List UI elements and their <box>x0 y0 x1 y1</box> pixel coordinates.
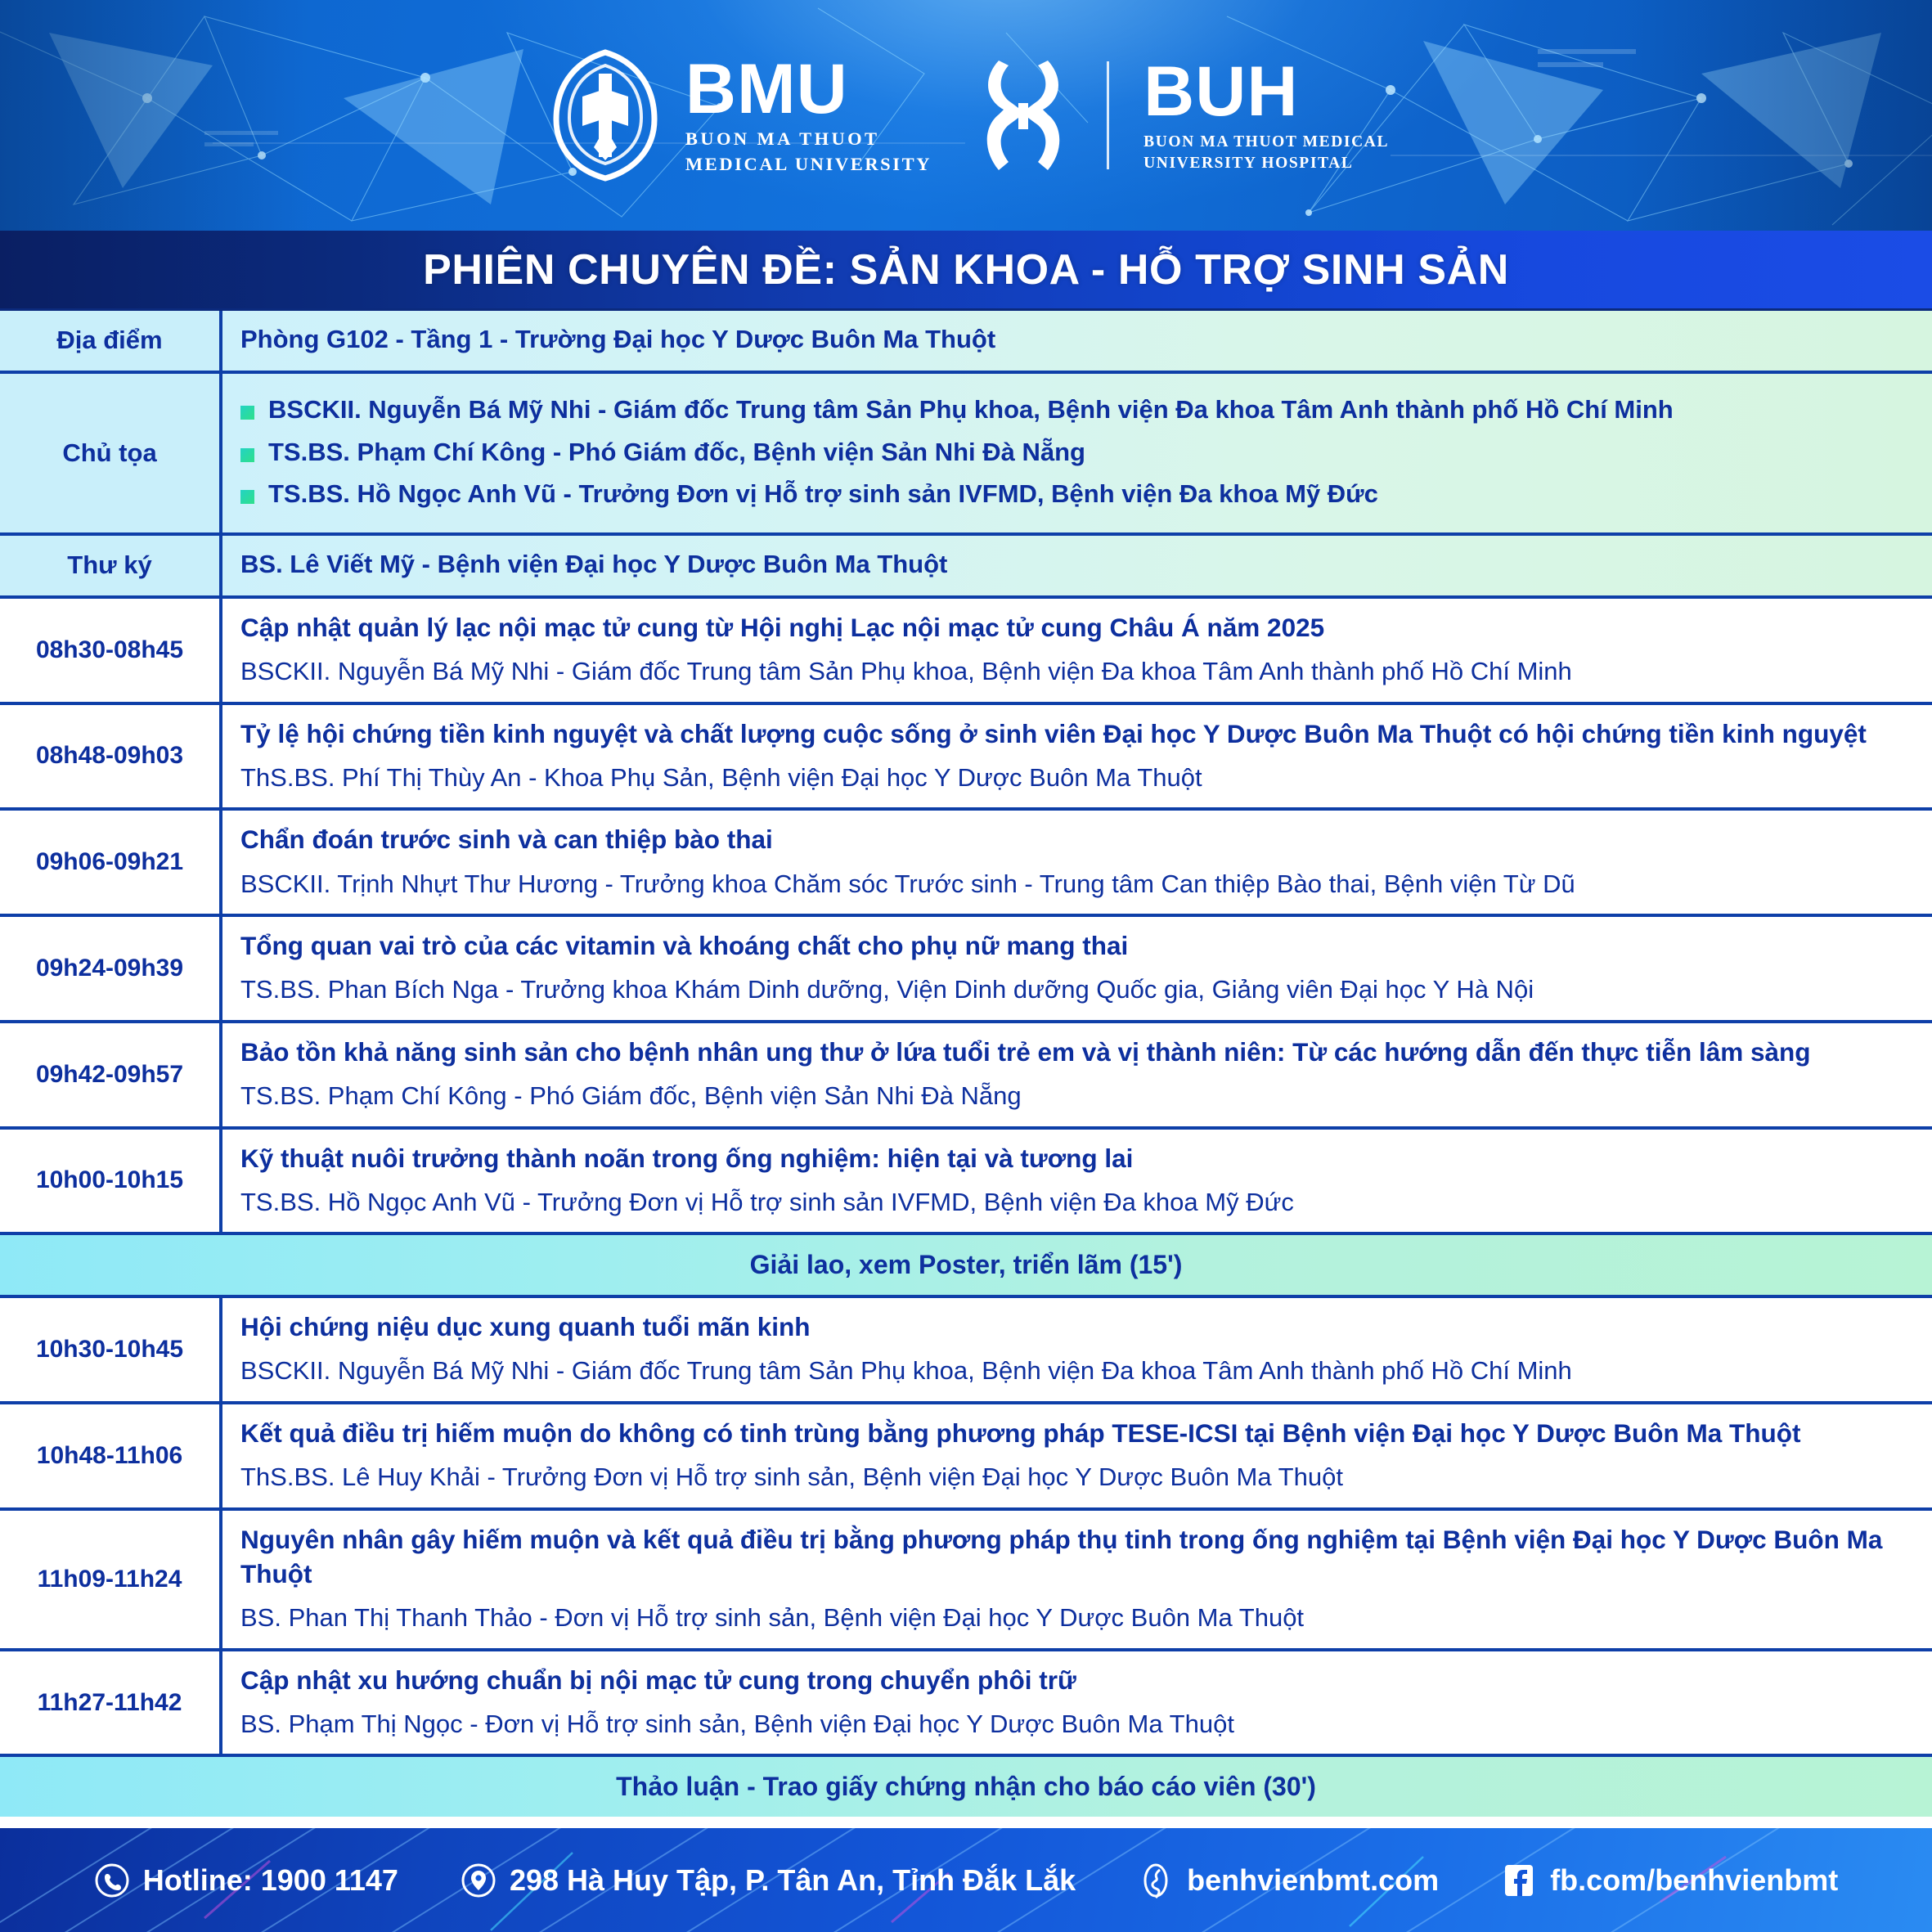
talk-time: 10h48-11h06 <box>0 1404 222 1507</box>
secretary-value-cell: BS. Lê Viết Mỹ - Bệnh viện Đại học Y Dượ… <box>222 536 1932 595</box>
chair-list: BSCKII. Nguyễn Bá Mỹ Nhi - Giám đốc Trun… <box>240 385 1914 519</box>
talk-cell: Tổng quan vai trò của các vitamin và kho… <box>222 917 1932 1020</box>
talk-title: Chẩn đoán trước sinh và can thiệp bào th… <box>240 822 1914 856</box>
talk-speaker: TS.BS. Phan Bích Nga - Trưởng khoa Khám … <box>240 973 1914 1007</box>
address-item: 298 Hà Huy Tập, P. Tân An, Tỉnh Đắk Lắk <box>461 1862 1076 1898</box>
table-row: 09h24-09h39Tổng quan vai trò của các vit… <box>0 917 1932 1023</box>
table-row: 10h48-11h06Kết quả điều trị hiếm muộn do… <box>0 1404 1932 1511</box>
break-row: Thảo luận - Trao giấy chứng nhận cho báo… <box>0 1757 1932 1817</box>
header-banner: BMU BUON MA THUOT MEDICAL UNIVERSITY BUH… <box>0 0 1932 231</box>
conference-session-poster: BMU BUON MA THUOT MEDICAL UNIVERSITY BUH… <box>0 0 1932 1932</box>
hotline-text: Hotline: 1900 1147 <box>143 1863 398 1898</box>
bmu-shield-logo-icon <box>543 49 667 182</box>
talk-title: Kết quả điều trị hiếm muộn do không có t… <box>240 1416 1914 1450</box>
website-item[interactable]: benhvienbmt.com <box>1138 1862 1439 1898</box>
chair-name-1: TS.BS. Phạm Chí Kông - Phó Giám đốc, Bện… <box>268 438 1085 466</box>
talk-title: Bảo tồn khả năng sinh sản cho bệnh nhân … <box>240 1035 1914 1069</box>
talk-cell: Tỷ lệ hội chứng tiền kinh nguyệt và chất… <box>222 705 1932 808</box>
venue-label: Địa điểm <box>0 311 222 371</box>
globe-icon <box>1138 1862 1174 1898</box>
schedule-rows: 08h30-08h45Cập nhật quản lý lạc nội mạc … <box>0 599 1932 1817</box>
chair-list-cell: BSCKII. Nguyễn Bá Mỹ Nhi - Giám đốc Trun… <box>222 374 1932 532</box>
venue-value-cell: Phòng G102 - Tầng 1 - Trường Đại học Y D… <box>222 311 1932 371</box>
buh-title: BUH <box>1143 58 1298 126</box>
break-label: Giải lao, xem Poster, triển lãm (15') <box>0 1235 1932 1295</box>
talk-title: Tỷ lệ hội chứng tiền kinh nguyệt và chất… <box>240 717 1914 751</box>
talk-cell: Kỹ thuật nuôi trưởng thành noãn trong ốn… <box>222 1130 1932 1233</box>
hotline-item[interactable]: Hotline: 1900 1147 <box>94 1862 398 1898</box>
break-row: Giải lao, xem Poster, triển lãm (15') <box>0 1235 1932 1298</box>
chair-name-0: BSCKII. Nguyễn Bá Mỹ Nhi - Giám đốc Trun… <box>268 395 1674 424</box>
table-row: 11h27-11h42Cập nhật xu hướng chuẩn bị nộ… <box>0 1651 1932 1758</box>
talk-title: Kỹ thuật nuôi trưởng thành noãn trong ốn… <box>240 1141 1914 1175</box>
website-text: benhvienbmt.com <box>1187 1863 1439 1898</box>
phone-icon <box>94 1862 130 1898</box>
schedule-table: Địa điểm Phòng G102 - Tầng 1 - Trường Đạ… <box>0 311 1932 1824</box>
bmu-subtitle-1: BUON MA THUOT <box>685 128 880 150</box>
talk-speaker: ThS.BS. Phí Thị Thùy An - Khoa Phụ Sản, … <box>240 761 1914 795</box>
talk-title: Tổng quan vai trò của các vitamin và kho… <box>240 928 1914 963</box>
talk-time: 08h48-09h03 <box>0 705 222 808</box>
table-row: 10h00-10h15Kỹ thuật nuôi trưởng thành no… <box>0 1130 1932 1236</box>
table-row: 09h06-09h21Chẩn đoán trước sinh và can t… <box>0 811 1932 917</box>
talk-speaker: TS.BS. Phạm Chí Kông - Phó Giám đốc, Bện… <box>240 1079 1914 1113</box>
page-title: PHIÊN CHUYÊN ĐỀ: SẢN KHOA - HỖ TRỢ SINH … <box>423 245 1509 294</box>
talk-title: Cập nhật xu hướng chuẩn bị nội mạc tử cu… <box>240 1663 1914 1697</box>
bmu-title: BMU <box>685 56 848 124</box>
square-bullet-icon <box>240 448 254 462</box>
talk-speaker: BSCKII. Trịnh Nhựt Thư Hương - Trưởng kh… <box>240 867 1914 901</box>
square-bullet-icon <box>240 490 254 504</box>
square-bullet-icon <box>240 406 254 420</box>
bmu-logo: BMU BUON MA THUOT MEDICAL UNIVERSITY <box>543 49 932 182</box>
talk-time: 09h42-09h57 <box>0 1023 222 1126</box>
talk-title: Nguyên nhân gây hiếm muộn và kết quả điề… <box>240 1522 1914 1591</box>
chair-name-2: TS.BS. Hồ Ngọc Anh Vũ - Trưởng Đơn vị Hỗ… <box>268 479 1378 508</box>
secretary-row: Thư ký BS. Lê Viết Mỹ - Bệnh viện Đại họ… <box>0 536 1932 599</box>
talk-cell: Hội chứng niệu dục xung quanh tuổi mãn k… <box>222 1298 1932 1401</box>
logo-row: BMU BUON MA THUOT MEDICAL UNIVERSITY BUH… <box>0 0 1932 231</box>
talk-cell: Chẩn đoán trước sinh và can thiệp bào th… <box>222 811 1932 914</box>
table-row: 11h09-11h24Nguyên nhân gây hiếm muộn và … <box>0 1511 1932 1651</box>
bmu-subtitle-2: MEDICAL UNIVERSITY <box>685 154 932 175</box>
buh-logo: BUH BUON MA THUOT MEDICAL UNIVERSITY HOS… <box>974 54 1389 177</box>
talk-cell: Nguyên nhân gây hiếm muộn và kết quả điề… <box>222 1511 1932 1648</box>
facebook-text: fb.com/benhvienbmt <box>1550 1863 1838 1898</box>
talk-speaker: BS. Phan Thị Thanh Thảo - Đơn vị Hỗ trợ … <box>240 1601 1914 1635</box>
talk-cell: Cập nhật xu hướng chuẩn bị nội mạc tử cu… <box>222 1651 1932 1755</box>
secretary-label: Thư ký <box>0 536 222 595</box>
talk-speaker: BSCKII. Nguyễn Bá Mỹ Nhi - Giám đốc Trun… <box>240 1354 1914 1388</box>
talk-cell: Kết quả điều trị hiếm muộn do không có t… <box>222 1404 1932 1507</box>
address-text: 298 Hà Huy Tập, P. Tân An, Tỉnh Đắk Lắk <box>510 1863 1076 1898</box>
talk-time: 08h30-08h45 <box>0 599 222 702</box>
talk-time: 09h06-09h21 <box>0 811 222 914</box>
list-item: TS.BS. Phạm Chí Kông - Phó Giám đốc, Bện… <box>240 435 1914 470</box>
map-pin-icon <box>461 1862 496 1898</box>
chair-label: Chủ tọa <box>0 374 222 532</box>
talk-speaker: BSCKII. Nguyễn Bá Mỹ Nhi - Giám đốc Trun… <box>240 654 1914 689</box>
table-row: 10h30-10h45Hội chứng niệu dục xung quanh… <box>0 1298 1932 1404</box>
break-label: Thảo luận - Trao giấy chứng nhận cho báo… <box>0 1757 1932 1817</box>
buh-divider <box>1107 61 1109 169</box>
talk-time: 11h09-11h24 <box>0 1511 222 1648</box>
contact-footer: Hotline: 1900 1147 298 Hà Huy Tập, P. Tâ… <box>0 1824 1932 1932</box>
venue-value: Phòng G102 - Tầng 1 - Trường Đại học Y D… <box>240 322 1914 357</box>
table-row: 08h48-09h03Tỷ lệ hội chứng tiền kinh ngu… <box>0 705 1932 811</box>
table-row: 08h30-08h45Cập nhật quản lý lạc nội mạc … <box>0 599 1932 705</box>
talk-title: Cập nhật quản lý lạc nội mạc tử cung từ … <box>240 610 1914 645</box>
list-item: BSCKII. Nguyễn Bá Mỹ Nhi - Giám đốc Trun… <box>240 393 1914 428</box>
talk-time: 10h30-10h45 <box>0 1298 222 1401</box>
talk-time: 10h00-10h15 <box>0 1130 222 1233</box>
talk-title: Hội chứng niệu dục xung quanh tuổi mãn k… <box>240 1310 1914 1344</box>
table-row: 09h42-09h57Bảo tồn khả năng sinh sản cho… <box>0 1023 1932 1130</box>
facebook-icon <box>1501 1862 1537 1898</box>
venue-row: Địa điểm Phòng G102 - Tầng 1 - Trường Đạ… <box>0 311 1932 374</box>
talk-speaker: BS. Phạm Thị Ngọc - Đơn vị Hỗ trợ sinh s… <box>240 1707 1914 1741</box>
chair-row: Chủ tọa BSCKII. Nguyễn Bá Mỹ Nhi - Giám … <box>0 374 1932 536</box>
buh-subtitle-1: BUON MA THUOT MEDICAL <box>1143 133 1389 151</box>
talk-time: 09h24-09h39 <box>0 917 222 1020</box>
buh-subtitle-2: UNIVERSITY HOSPITAL <box>1143 155 1353 173</box>
secretary-value: BS. Lê Viết Mỹ - Bệnh viện Đại học Y Dượ… <box>240 547 1914 582</box>
buh-monogram-logo-icon <box>974 54 1072 177</box>
talk-cell: Cập nhật quản lý lạc nội mạc tử cung từ … <box>222 599 1932 702</box>
list-item: TS.BS. Hồ Ngọc Anh Vũ - Trưởng Đơn vị Hỗ… <box>240 477 1914 512</box>
talk-cell: Bảo tồn khả năng sinh sản cho bệnh nhân … <box>222 1023 1932 1126</box>
talk-speaker: TS.BS. Hồ Ngọc Anh Vũ - Trưởng Đơn vị Hỗ… <box>240 1185 1914 1220</box>
talk-time: 11h27-11h42 <box>0 1651 222 1755</box>
talk-speaker: ThS.BS. Lê Huy Khải - Trưởng Đơn vị Hỗ t… <box>240 1460 1914 1494</box>
session-title-bar: PHIÊN CHUYÊN ĐỀ: SẢN KHOA - HỖ TRỢ SINH … <box>0 231 1932 311</box>
facebook-item[interactable]: fb.com/benhvienbmt <box>1501 1862 1838 1898</box>
